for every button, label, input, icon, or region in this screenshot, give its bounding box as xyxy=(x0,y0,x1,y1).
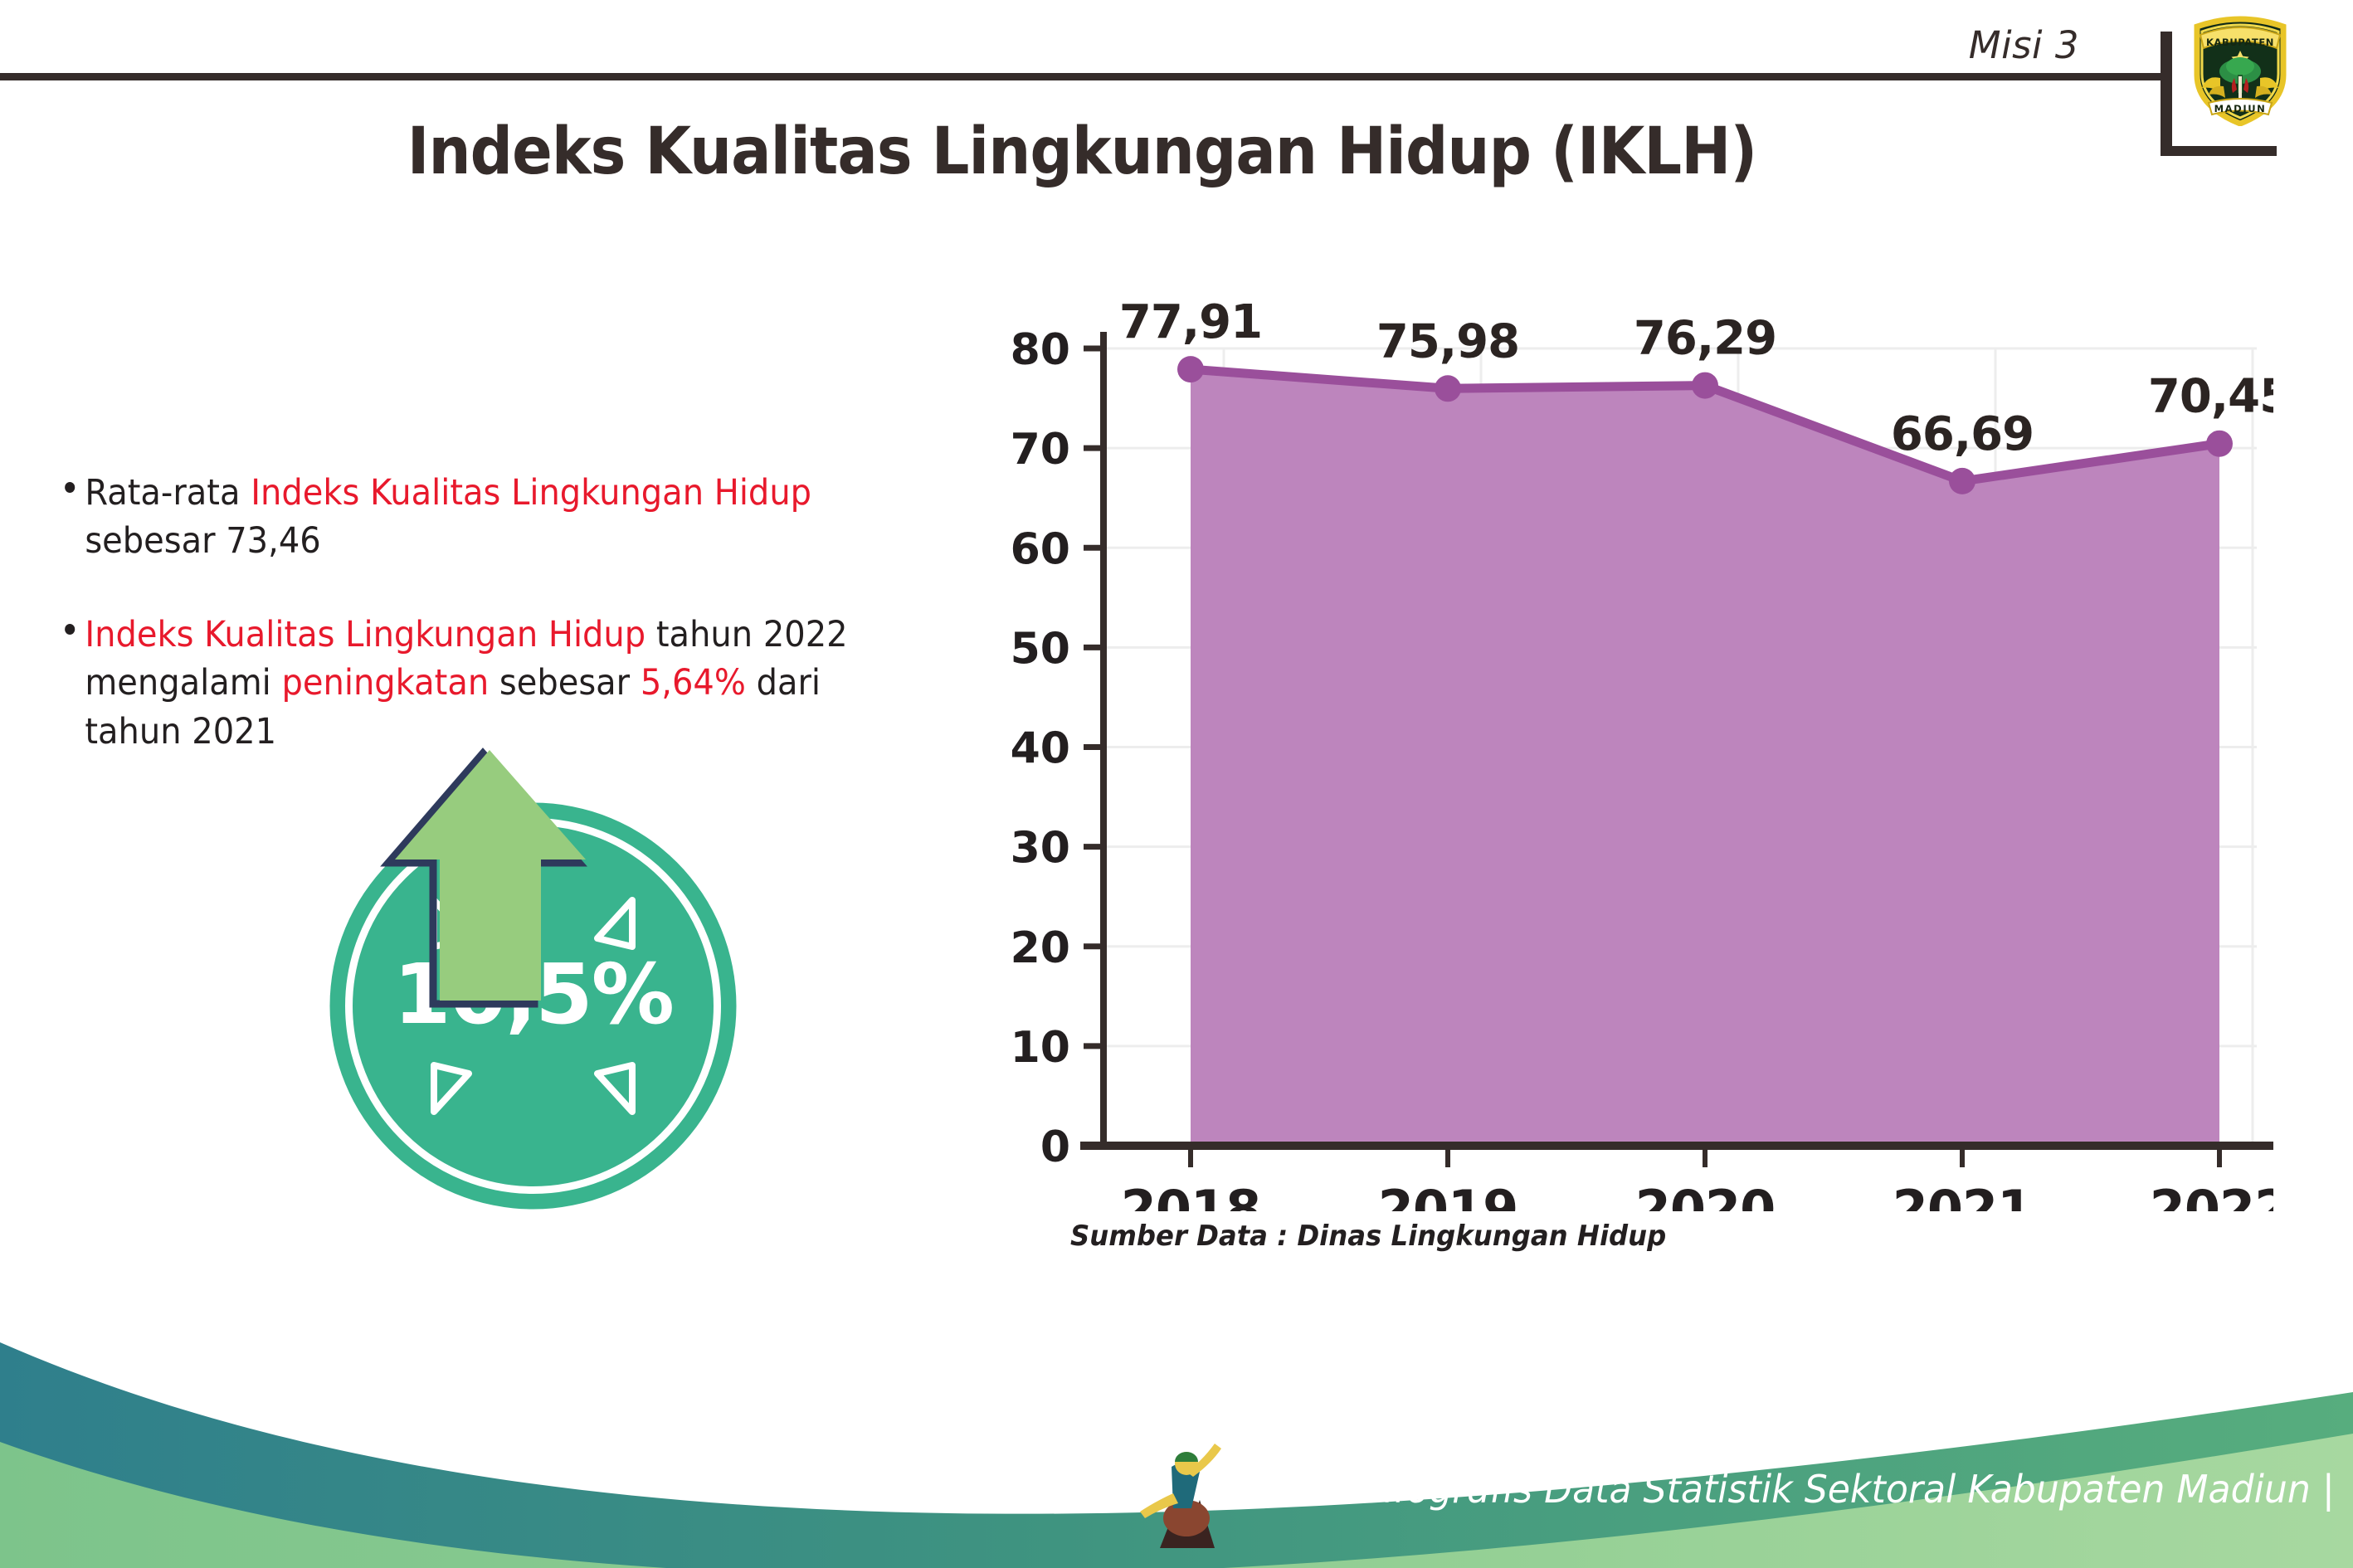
y-tick-label: 70 xyxy=(1011,425,1070,475)
data-point-marker xyxy=(2206,431,2233,457)
iklh-area-chart: 77,9175,9876,2966,6970,45010203040506070… xyxy=(979,282,2273,1211)
y-tick-label: 40 xyxy=(1011,724,1070,774)
list-item: Rata-rata Indeks Kualitas Lingkungan Hid… xyxy=(66,469,877,566)
data-point-label: 66,69 xyxy=(1891,407,2034,461)
infographic-page: Misi 3 KABUPATEN xyxy=(0,0,2353,1568)
data-point-marker xyxy=(1435,375,1461,402)
page-title: Indeks Kualitas Lingkungan Hidup (IKLH) xyxy=(86,114,2077,189)
highlighted-text: Indeks Kualitas Lingkungan Hidup xyxy=(85,614,645,655)
highlighted-text: 5,64% xyxy=(641,662,746,704)
list-item: Indeks Kualitas Lingkungan Hidup tahun 2… xyxy=(66,611,877,756)
data-point-marker xyxy=(1949,468,1975,494)
y-tick-label: 30 xyxy=(1011,824,1070,874)
up-arrow-icon xyxy=(380,745,596,1019)
plain-text: Rata-rata xyxy=(85,472,251,514)
x-tick-label: 2020 xyxy=(1635,1179,1776,1211)
highlighted-text: peningkatan xyxy=(282,662,490,704)
x-tick-label: 2019 xyxy=(1378,1179,1518,1211)
y-tick-label: 10 xyxy=(1011,1023,1070,1073)
footer-text: Media Infografis Data Statistik Sektoral… xyxy=(1238,1467,2335,1512)
data-point-marker xyxy=(1692,373,1718,399)
bullet-text-0: Rata-rata Indeks Kualitas Lingkungan Hid… xyxy=(66,469,877,566)
plain-text: sebesar xyxy=(489,662,641,704)
bullet-text-1: Indeks Kualitas Lingkungan Hidup tahun 2… xyxy=(66,611,877,756)
x-tick-label: 2018 xyxy=(1121,1179,1261,1211)
misi-label: Misi 3 xyxy=(1969,23,2079,67)
y-tick-label: 80 xyxy=(1011,325,1070,375)
data-point-label: 77,91 xyxy=(1119,295,1262,349)
x-tick-label: 2022 xyxy=(2150,1179,2273,1211)
bullet-dot-icon xyxy=(65,624,75,635)
area-fill xyxy=(1191,369,2219,1146)
y-tick-label: 60 xyxy=(1011,524,1070,574)
y-tick-label: 0 xyxy=(1040,1122,1070,1172)
y-tick-label: 50 xyxy=(1011,624,1070,674)
header-divider xyxy=(0,73,2164,80)
dancer-icon xyxy=(1135,1442,1228,1550)
chart-source-note: Sumber Data : Dinas Lingkungan Hidup xyxy=(1070,1220,1666,1253)
data-point-marker xyxy=(1177,356,1204,382)
highlighted-text: Indeks Kualitas Lingkungan Hidup xyxy=(251,472,811,514)
bullet-dot-icon xyxy=(65,482,75,493)
kabupaten-madiun-logo-icon: KABUPATEN MADIUN xyxy=(2187,10,2293,126)
y-tick-label: 20 xyxy=(1011,923,1070,973)
logo-bottom-text: MADIUN xyxy=(2214,103,2267,114)
chart-canvas: 77,9175,9876,2966,6970,45010203040506070… xyxy=(979,282,2273,1211)
plain-text: sebesar 73,46 xyxy=(85,520,320,562)
logo-top-text: KABUPATEN xyxy=(2206,37,2274,48)
data-point-label: 76,29 xyxy=(1634,312,1776,366)
bracket-vertical xyxy=(2161,32,2172,154)
bracket-horizontal xyxy=(2161,146,2277,156)
data-point-label: 70,45 xyxy=(2148,370,2273,424)
data-point-label: 75,98 xyxy=(1376,314,1519,368)
x-tick-label: 2021 xyxy=(1893,1179,2033,1211)
